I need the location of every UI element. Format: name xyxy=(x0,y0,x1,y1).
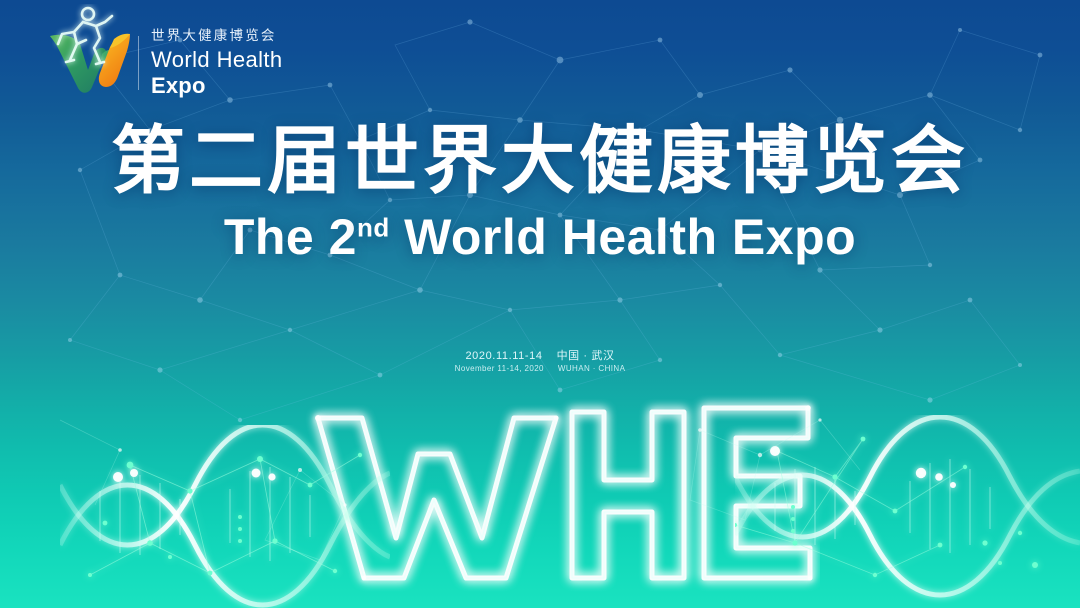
lower-sparkle-layer xyxy=(0,0,1080,608)
poster-canvas: 世界大健康博览会 World Health Expo 第二届世界大健康博览会 T… xyxy=(0,0,1080,608)
